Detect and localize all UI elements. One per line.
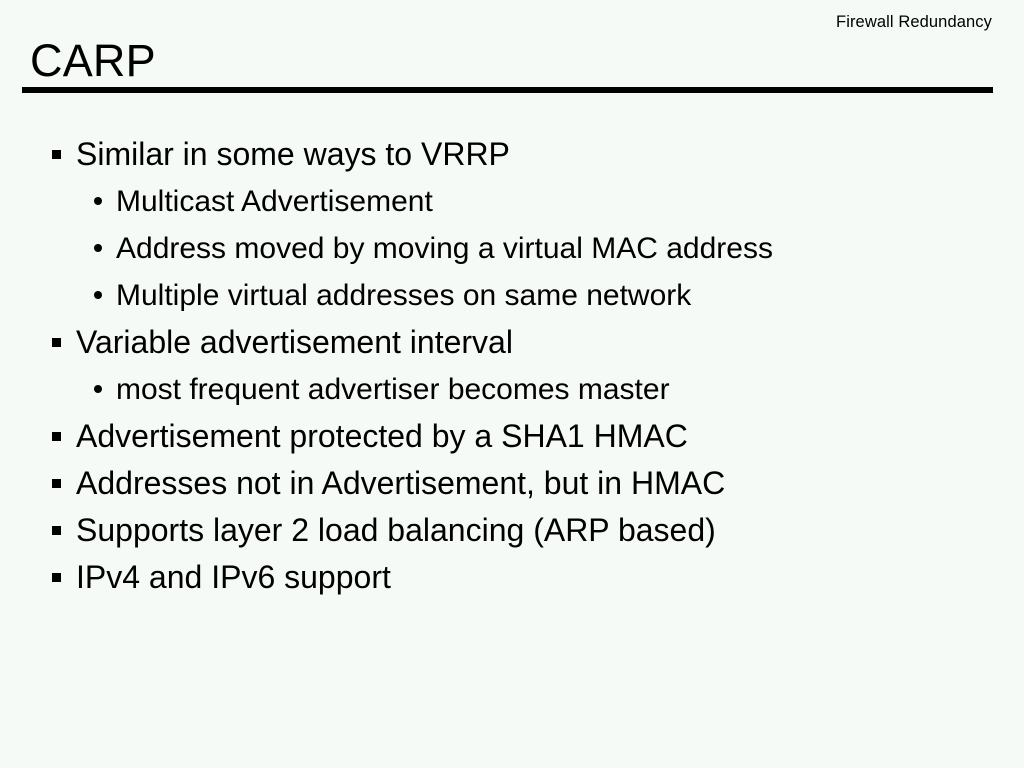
list-item-label: IPv4 and IPv6 support [76,554,1024,601]
list-item: IPv4 and IPv6 support [0,554,1024,601]
list-item-label: Advertisement protected by a SHA1 HMAC [76,413,1024,460]
square-bullet-icon [52,479,61,488]
bullet-list: Similar in some ways to VRRPMulticast Ad… [0,131,1024,601]
list-item: Advertisement protected by a SHA1 HMAC [0,413,1024,460]
list-item-label: Multicast Advertisement [116,178,1024,225]
page-title: CARP [30,36,156,86]
square-bullet-icon [52,150,61,159]
dot-bullet-icon [94,291,102,299]
title-divider [22,87,993,93]
list-item-label: most frequent advertiser becomes master [116,366,1024,413]
square-bullet-icon [52,432,61,441]
list-item-label: Addresses not in Advertisement, but in H… [76,460,1024,507]
list-item-label: Address moved by moving a virtual MAC ad… [116,225,1024,272]
list-item: Variable advertisement interval [0,319,1024,366]
list-item: Multiple virtual addresses on same netwo… [0,272,1024,319]
list-item-label: Similar in some ways to VRRP [76,131,1024,178]
list-item-label: Supports layer 2 load balancing (ARP bas… [76,507,1024,554]
dot-bullet-icon [94,197,102,205]
list-item: Addresses not in Advertisement, but in H… [0,460,1024,507]
dot-bullet-icon [94,244,102,252]
slide-header-label: Firewall Redundancy [22,12,992,32]
list-item: Similar in some ways to VRRP [0,131,1024,178]
square-bullet-icon [52,573,61,582]
square-bullet-icon [52,338,61,347]
list-item: Multicast Advertisement [0,178,1024,225]
list-item: Address moved by moving a virtual MAC ad… [0,225,1024,272]
square-bullet-icon [52,526,61,535]
slide: Firewall Redundancy CARP Similar in some… [0,0,1024,768]
list-item-label: Variable advertisement interval [76,319,1024,366]
list-item: Supports layer 2 load balancing (ARP bas… [0,507,1024,554]
dot-bullet-icon [94,385,102,393]
list-item-label: Multiple virtual addresses on same netwo… [116,272,1024,319]
list-item: most frequent advertiser becomes master [0,366,1024,413]
